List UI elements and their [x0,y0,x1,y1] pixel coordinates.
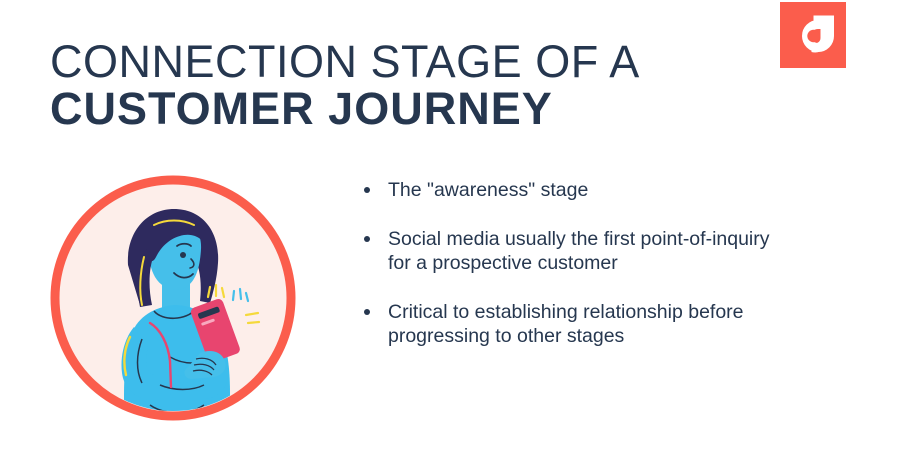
bullet-dot-icon [364,187,370,193]
list-item-label: The "awareness" stage [388,178,780,203]
cj-monogram-icon [780,2,846,68]
title-line-2: CUSTOMER JOURNEY [50,85,750,132]
cj-monogram-logo[interactable] [780,2,846,68]
sparkle-yellow-5 [248,322,259,323]
slide-canvas: CONNECTION STAGE OF A CUSTOMER JOURNEY [0,0,920,460]
bullet-dot-icon [364,309,370,315]
woman-using-smartphone-illustration [50,175,296,421]
page-title: CONNECTION STAGE OF A CUSTOMER JOURNEY [50,38,750,132]
title-line-1: CONNECTION STAGE OF A [50,38,750,85]
list-item: The "awareness" stage [360,178,780,203]
sparkle-cyan-2 [240,289,241,299]
bullet-dot-icon [364,236,370,242]
bullet-list: The "awareness" stage Social media usual… [360,178,780,349]
eye [180,252,186,258]
list-item-label: Social media usually the first point-of-… [388,227,780,276]
list-item: Social media usually the first point-of-… [360,227,780,276]
list-item-label: Critical to establishing relationship be… [388,300,780,349]
sparkle-cyan-1 [233,291,234,300]
list-item: Critical to establishing relationship be… [360,300,780,349]
illustration-svg [50,175,296,421]
